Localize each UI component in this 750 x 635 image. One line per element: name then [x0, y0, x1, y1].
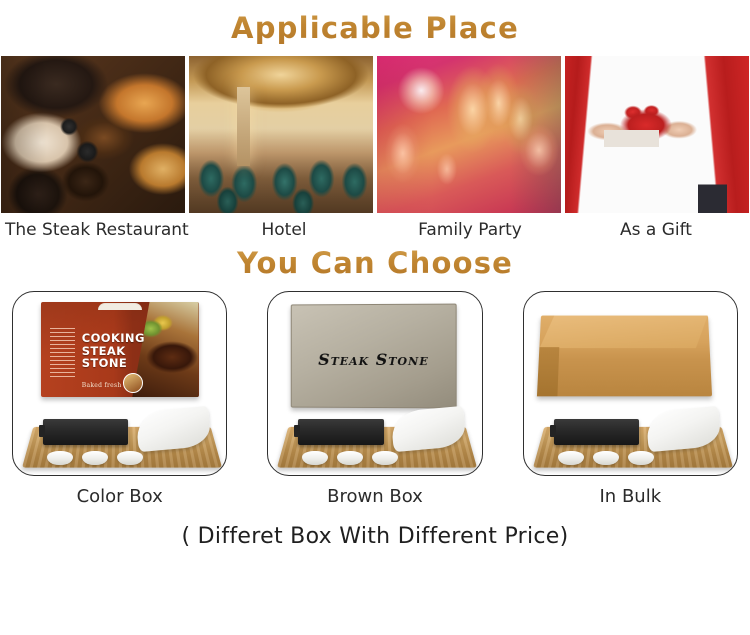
carton-badge-icon [123, 373, 143, 393]
dipping-bowl [302, 451, 328, 465]
applicable-place-caption-row: The Steak Restaurant Hotel Family Party … [0, 220, 750, 240]
caption-color-box: Color Box [12, 486, 227, 507]
color-box-carton: COOKING STEAK STONE Baked fresh [41, 302, 199, 397]
dipping-bowl [628, 451, 654, 465]
dipping-bowl [117, 451, 143, 465]
carton-text-block [50, 328, 75, 380]
dipping-bowls [302, 451, 398, 465]
packaging-caption-row: Color Box Brown Box In Bulk [0, 486, 750, 507]
kraft-carton [537, 316, 712, 397]
dipping-bowl [337, 451, 363, 465]
applicable-place-photo-row [0, 56, 750, 213]
caption-family-party: Family Party [377, 220, 563, 240]
caption-brown-box: Brown Box [267, 486, 482, 507]
dipping-bowl [47, 451, 73, 465]
dipping-bowl [372, 451, 398, 465]
caption-steak-restaurant: The Steak Restaurant [1, 220, 191, 240]
carton-title-line1: COOKING [82, 332, 145, 345]
caption-as-a-gift: As a Gift [563, 220, 749, 240]
package-panel-in-bulk [523, 291, 738, 476]
dipping-bowl [593, 451, 619, 465]
carton-title: COOKING STEAK STONE [82, 332, 145, 370]
page-title-applicable-place: Applicable Place [0, 0, 750, 45]
photo-as-a-gift [565, 56, 749, 213]
brown-box-carton: Steak Stone [290, 304, 456, 409]
carton-title-line3: STONE [82, 357, 145, 370]
footer-note-price: ( Differet Box With Different Price) [0, 524, 750, 549]
cooking-stone [43, 419, 128, 445]
dipping-bowls [558, 451, 654, 465]
brown-box-label: Steak Stone [291, 350, 455, 369]
photo-steak-restaurant [1, 56, 185, 213]
dipping-bowls [47, 451, 143, 465]
dipping-bowl [558, 451, 584, 465]
photo-family-party [377, 56, 561, 213]
dipping-bowl [82, 451, 108, 465]
cooking-stone [554, 419, 639, 445]
packaging-option-row: COOKING STEAK STONE Baked fresh Steak St… [0, 291, 750, 476]
package-panel-color-box: COOKING STEAK STONE Baked fresh [12, 291, 227, 476]
cooking-stone [298, 419, 383, 445]
caption-hotel: Hotel [191, 220, 377, 240]
carton-subtitle: Baked fresh [82, 382, 122, 389]
caption-in-bulk: In Bulk [523, 486, 738, 507]
package-panel-brown-box: Steak Stone [267, 291, 482, 476]
photo-hotel [189, 56, 373, 213]
page-title-you-can-choose: You Can Choose [0, 240, 750, 280]
carton-handle-icon [98, 303, 142, 310]
